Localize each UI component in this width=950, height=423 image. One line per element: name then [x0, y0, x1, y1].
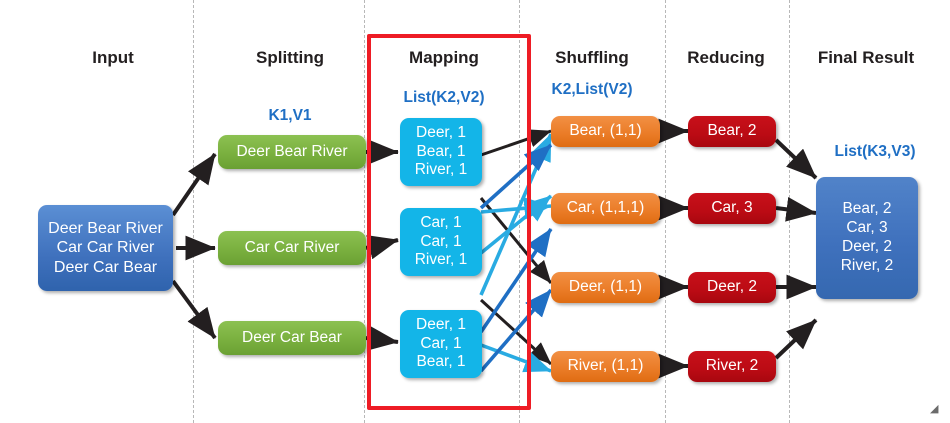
map-box-1[interactable]: Deer, 1 Bear, 1 River, 1 [400, 118, 482, 186]
map-box-1-line-1: Deer, 1 [416, 124, 466, 143]
shuffle-box-river[interactable]: River, (1,1) [551, 351, 660, 382]
reduce-box-car-line: Car, 3 [711, 199, 752, 218]
stage-title-reducing: Reducing [687, 48, 764, 68]
kv-label-k1v1: K1,V1 [268, 107, 311, 125]
map-box-3-line-1: Deer, 1 [416, 316, 466, 335]
final-result-line-1: Bear, 2 [842, 200, 891, 219]
stage-divider-2 [364, 0, 365, 423]
stage-divider-5 [789, 0, 790, 423]
map-box-2-line-1: Car, 1 [420, 214, 461, 233]
split-box-3-line: Deer Car Bear [242, 329, 342, 348]
reduce-box-river-line: River, 2 [706, 357, 759, 376]
stage-title-input: Input [92, 48, 134, 68]
map-box-2[interactable]: Car, 1 Car, 1 River, 1 [400, 208, 482, 276]
shuffle-box-deer-line: Deer, (1,1) [569, 278, 642, 297]
kv-label-k2-list-v2: K2,List(V2) [552, 81, 633, 99]
kv-label-list-k3v3: List(K3,V3) [835, 143, 916, 161]
map-box-3-line-3: Bear, 1 [416, 353, 465, 372]
stage-divider-4 [665, 0, 666, 423]
stage-title-final-result: Final Result [818, 48, 914, 68]
reduce-box-deer-line: Deer, 2 [707, 278, 757, 297]
input-box[interactable]: Deer Bear River Car Car River Deer Car B… [38, 205, 173, 291]
map-box-1-line-2: Bear, 1 [416, 143, 465, 162]
map-box-3-line-2: Car, 1 [420, 335, 461, 354]
reduce-box-deer[interactable]: Deer, 2 [688, 272, 776, 303]
stage-divider-1 [193, 0, 194, 423]
shuffle-box-river-line: River, (1,1) [568, 357, 644, 376]
map-box-1-line-3: River, 1 [415, 161, 468, 180]
input-line-2: Car Car River [57, 238, 155, 258]
corner-artifact-icon: ◢ [930, 404, 940, 414]
reduce-box-river[interactable]: River, 2 [688, 351, 776, 382]
mapreduce-diagram: Input Splitting Mapping Shuffling Reduci… [0, 0, 950, 423]
shuffle-box-car[interactable]: Car, (1,1,1) [551, 193, 660, 224]
map-box-2-line-3: River, 1 [415, 251, 468, 270]
final-result-line-3: Deer, 2 [842, 238, 892, 257]
reduce-box-bear[interactable]: Bear, 2 [688, 116, 776, 147]
stage-title-splitting: Splitting [256, 48, 324, 68]
shuffle-box-car-line: Car, (1,1,1) [567, 199, 645, 218]
reduce-box-bear-line: Bear, 2 [707, 122, 756, 141]
final-result-line-2: Car, 3 [846, 219, 887, 238]
shuffle-box-bear[interactable]: Bear, (1,1) [551, 116, 660, 147]
final-result-box[interactable]: Bear, 2 Car, 3 Deer, 2 River, 2 [816, 177, 918, 299]
input-line-1: Deer Bear River [48, 219, 163, 239]
reduce-box-car[interactable]: Car, 3 [688, 193, 776, 224]
final-result-line-4: River, 2 [841, 257, 894, 276]
split-box-1-line: Deer Bear River [236, 143, 347, 162]
map-box-2-line-2: Car, 1 [420, 233, 461, 252]
split-box-1[interactable]: Deer Bear River [218, 135, 366, 169]
split-box-3[interactable]: Deer Car Bear [218, 321, 366, 355]
shuffle-box-bear-line: Bear, (1,1) [569, 122, 641, 141]
shuffle-box-deer[interactable]: Deer, (1,1) [551, 272, 660, 303]
split-box-2-line: Car Car River [245, 239, 340, 258]
split-box-2[interactable]: Car Car River [218, 231, 366, 265]
input-line-3: Deer Car Bear [54, 258, 157, 278]
stage-title-shuffling: Shuffling [555, 48, 629, 68]
map-box-3[interactable]: Deer, 1 Car, 1 Bear, 1 [400, 310, 482, 378]
